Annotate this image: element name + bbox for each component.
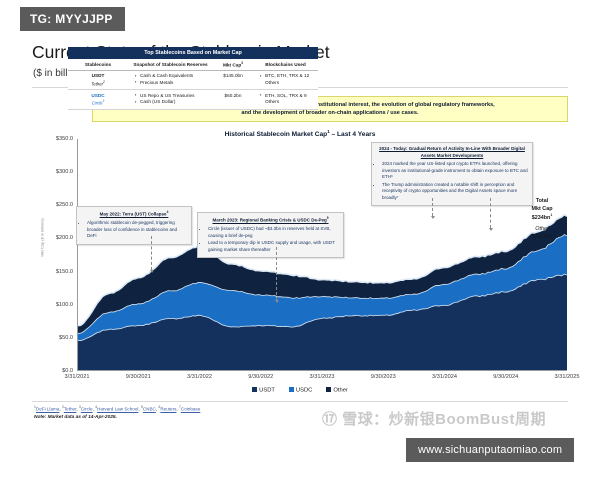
legend-item-usdt: USDT (252, 387, 275, 394)
cell-cap-usdt: $145.0bn (213, 70, 253, 89)
x-tick-9-30-2024: 9/30/2024 (493, 374, 518, 380)
legend-label: USDT (259, 388, 275, 394)
table-header-bar: Top Stablecoins Based on Market Cap (68, 47, 318, 59)
leader-line-2024-today-left (432, 198, 433, 216)
callout-bullets: 2024 marked the year US-listed spot cryp… (376, 161, 528, 201)
table-row: USDTTether2 Cash & Cash EquivalentsPreci… (68, 70, 318, 89)
telegram-watermark-tag: TG: MYYJJPP (20, 7, 125, 31)
x-tick-3-31-2025: 3/31/2025 (555, 374, 580, 380)
table-row: USDCCircle3 US Repo & US TreasuriesCash … (68, 90, 318, 109)
label-other-series: Other $28.7bn (512, 226, 572, 241)
callout-bullets: Algorithmic stablecoin de-pegged, trigge… (81, 220, 187, 240)
chart-heading-tail: – Last 4 Years (330, 131, 376, 138)
source-link-cnbc[interactable]: CNBC (143, 407, 156, 412)
callout-bullet: Lead to a temporary dip in USDC supply a… (208, 240, 339, 253)
callout-bullet: 2024 marked the year US-listed spot cryp… (382, 161, 528, 181)
cell-coin-usdc: USDCCircle3 (68, 90, 128, 109)
x-tick-9-30-2023: 9/30/2023 (371, 374, 396, 380)
x-tick-3-31-2023: 3/31/2023 (310, 374, 335, 380)
xueqiu-watermark: ⑰ 雪球：炒新银BoomBust周期 (322, 408, 546, 429)
site-url-watermark: www.sichuanputaomiao.com (406, 438, 574, 462)
y-axis-label: Mkt Cap ($ in billions) (40, 218, 45, 256)
label-total-mkt-cap: Total Mkt Cap $234bn1 (512, 198, 572, 222)
callout-bullet: Circle (issuer of USDC) had ~$3.3bn in r… (208, 226, 339, 239)
callout-header: 2024 - Today: Gradual Return of Activity… (376, 146, 528, 159)
cell-reserves-usdt: Cash & Cash EquivalentsPrecious Metals (128, 70, 213, 89)
callout-march-2023: March 2023: Regional Banking Crisis & US… (197, 212, 344, 258)
callout-2024-today: 2024 - Today: Gradual Return of Activity… (371, 142, 533, 206)
y-tick-250: $250.0 (56, 202, 73, 208)
callout-bullet: Algorithmic stablecoin de-pegged, trigge… (87, 220, 187, 240)
legend-label: Other (333, 388, 348, 394)
source-link-circle[interactable]: Circle (81, 407, 93, 412)
callout-bullet: The Trump administration created a notab… (382, 182, 528, 202)
x-tick-3-31-2024: 3/31/2024 (432, 374, 457, 380)
label-usdt-series: USDT $145.0bn (512, 317, 572, 332)
top-stablecoins-table: Top Stablecoins Based on Market Cap Stab… (68, 47, 318, 110)
cell-chains-usdc: ETH, SOL, TRX & 9 Others (253, 90, 318, 109)
source-link-tether[interactable]: Tether (64, 407, 77, 412)
leader-line-may-2022 (151, 236, 152, 270)
cell-chains-usdt: BTC, ETH, TRX & 12 Others (253, 70, 318, 89)
table-rows: USDTTether2 Cash & Cash EquivalentsPreci… (68, 70, 318, 109)
cell-coin-usdt: USDTTether2 (68, 70, 128, 89)
y-tick-150: $150.0 (56, 269, 73, 275)
callout-header: March 2023: Regional Banking Crisis & US… (202, 216, 339, 224)
leader-line-march-2023 (276, 247, 277, 300)
legend-label: USDC (296, 388, 312, 394)
cell-cap-usdc: $60.2bn (213, 90, 253, 109)
chart-heading: Historical Stablecoin Market Cap1 – Last… (20, 129, 580, 138)
chart-legend: USDTUSDCOther (20, 387, 580, 394)
label-usdc-series: USDC $60.2bn (512, 262, 572, 277)
y-tick-100: $100.0 (56, 302, 73, 308)
chart-heading-text: Historical Stablecoin Market Cap (225, 131, 328, 138)
legend-item-other: Other (326, 387, 348, 394)
legend-swatch-usdc (289, 387, 294, 392)
source-link-defi-llama[interactable]: DeFi Llama (36, 407, 60, 412)
sources-line: 1DeFi Llama, 2Tether, 3Circle, 4Harvard … (34, 405, 200, 412)
source-link-harvard-law-school[interactable]: Harvard Law School (97, 407, 138, 412)
x-axis: 3/31/20219/30/20213/31/20229/30/20223/31… (77, 372, 567, 386)
y-tick-300: $300.0 (56, 169, 73, 175)
source-link-coinbase[interactable]: Coinbase (181, 407, 200, 412)
col-chains: Blockchains Used (253, 59, 318, 70)
footer-divider (32, 401, 568, 402)
callout-may-2022: May 2022: Terra (UST) Collapse4 Algorith… (76, 206, 192, 245)
col-stablecoins: Stablecoins (68, 59, 128, 70)
y-axis: Mkt Cap ($ in billions) $350.0 $300.0 $2… (33, 139, 77, 371)
banner-line-2: and the development of broader on-chain … (99, 109, 561, 117)
col-mkt-cap: Mkt Cap3 (213, 59, 253, 70)
data-note: Note: Market data as of 14-Apr-2025. (34, 415, 117, 420)
cell-reserves-usdc: US Repo & US TreasuriesCash (US Dollar) (128, 90, 213, 109)
y-tick-350: $350.0 (56, 136, 73, 142)
y-tick-50: $50.0 (59, 335, 73, 341)
leader-line-2024-today-right (490, 198, 491, 228)
table-body: Stablecoins Snapshot of Stablecoin Reser… (68, 59, 318, 110)
legend-swatch-usdt (252, 387, 257, 392)
x-tick-3-31-2021: 3/31/2021 (65, 374, 90, 380)
callout-bullets: Circle (issuer of USDC) had ~$3.3bn in r… (202, 226, 339, 253)
x-tick-9-30-2021: 9/30/2021 (126, 374, 151, 380)
callout-header: May 2022: Terra (UST) Collapse4 (81, 210, 187, 218)
total-value: $234bn1 (532, 215, 552, 221)
legend-swatch-other (326, 387, 331, 392)
legend-item-usdc: USDC (289, 387, 312, 394)
y-tick-200: $200.0 (56, 235, 73, 241)
col-reserves: Snapshot of Stablecoin Reserves (128, 59, 213, 70)
table-header-row: Stablecoins Snapshot of Stablecoin Reser… (68, 59, 318, 70)
slide-canvas: Current State of the Stablecoin Market (… (20, 34, 580, 438)
x-tick-9-30-2022: 9/30/2022 (248, 374, 273, 380)
source-link-reuters[interactable]: Reuters (160, 407, 176, 412)
x-tick-3-31-2022: 3/31/2022 (187, 374, 212, 380)
